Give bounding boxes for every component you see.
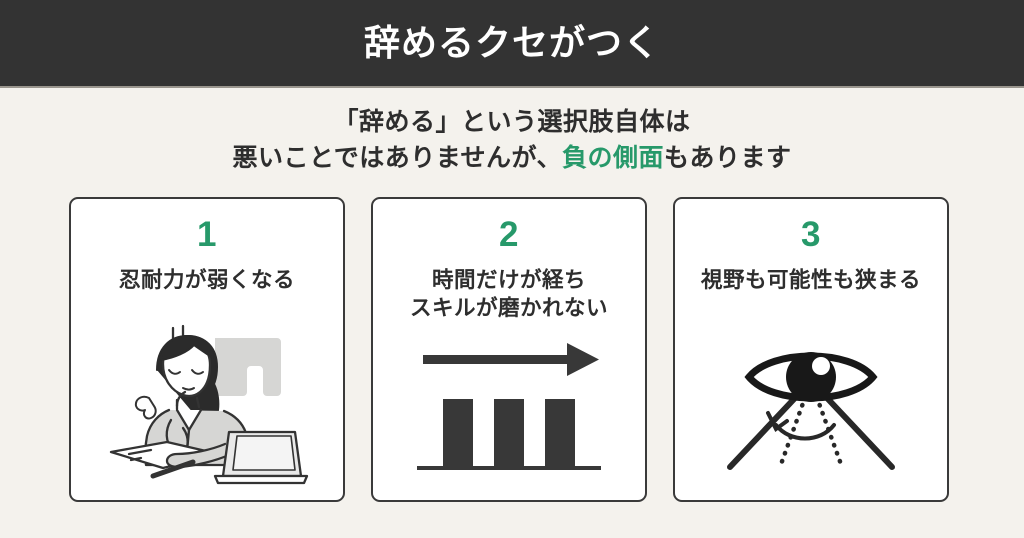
eye-narrowing-field-of-view-icon (675, 319, 947, 494)
card-3-number: 3 (801, 217, 821, 252)
card-3[interactable]: 3 視野も可能性も狭まる (673, 197, 949, 502)
subtitle-line-2: 悪いことではありませんが、負の側面もあります (0, 141, 1024, 177)
subtitle-line-1: 「辞める」という選択肢自体は (0, 105, 1024, 141)
subtitle-line-2-after: もあります (664, 144, 792, 172)
card-1[interactable]: 1 忍耐力が弱くなる (69, 197, 345, 502)
card-3-title: 視野も可能性も狭まる (701, 266, 921, 294)
slide-root: 辞めるクセがつく 「辞める」という選択肢自体は 悪いことではありませんが、負の側… (0, 0, 1024, 538)
right-arrow-icon (423, 343, 599, 376)
subtitle-block: 「辞める」という選択肢自体は 悪いことではありませんが、負の側面もあります (0, 105, 1024, 176)
card-row: 1 忍耐力が弱くなる (69, 197, 949, 502)
card-2-title: 時間だけが経ち スキルが磨かれない (410, 266, 608, 323)
subtitle-line-2-before: 悪いことではありませんが、 (232, 144, 562, 172)
header-bar: 辞めるクセがつく (0, 0, 1024, 88)
subtitle-accent-text: 負の側面 (562, 144, 664, 172)
equal-bars-icon (443, 399, 575, 467)
tired-woman-at-desk-icon (71, 319, 343, 494)
card-2-number: 2 (499, 217, 519, 252)
page-title: 辞めるクセがつく (364, 25, 660, 61)
card-1-number: 1 (197, 217, 217, 252)
arrow-and-equal-bars-icon (373, 319, 645, 494)
card-2[interactable]: 2 時間だけが経ち スキルが磨かれない (371, 197, 647, 502)
card-1-title: 忍耐力が弱くなる (119, 266, 295, 294)
